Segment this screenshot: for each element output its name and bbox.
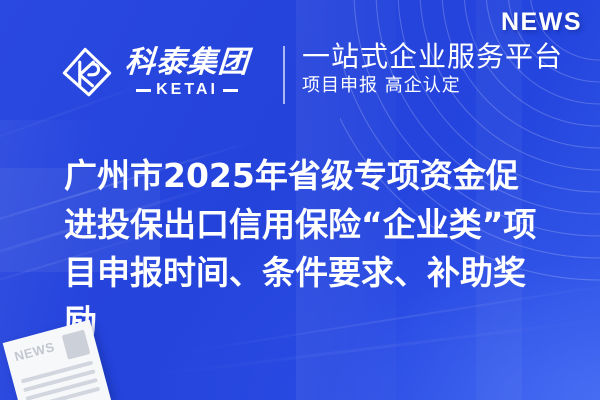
brand-name-en-row: KETAI <box>136 82 238 98</box>
tagline-main: 一站式企业服务平台 <box>302 41 563 72</box>
newspaper-title: NEWS <box>13 340 56 363</box>
wordmark-rule-left <box>136 89 151 92</box>
wordmark-rule-right <box>223 89 238 92</box>
brand-name-cn: 科泰集团 <box>124 48 250 78</box>
news-banner: NEWS 科泰集团 KETAI 一站式企业服务 <box>0 0 600 400</box>
brand-logo[interactable]: 科泰集团 KETAI <box>58 44 249 102</box>
ketai-diamond-monogram-icon <box>58 44 116 102</box>
newspaper-image-block <box>62 330 91 360</box>
brand-name-en: KETAI <box>156 82 218 98</box>
news-badge: NEWS <box>501 8 582 37</box>
header-divider <box>283 46 285 104</box>
tagline-sub: 项目申报 高企认定 <box>302 75 563 97</box>
tagline-block: 一站式企业服务平台 项目申报 高企认定 <box>302 41 563 97</box>
page-title: 广州市2025年省级专项资金促进投保出口信用保险“企业类”项目申报时间、条件要求… <box>64 152 542 346</box>
brand-wordmark: 科泰集团 KETAI <box>125 48 249 98</box>
banner-header: NEWS 科泰集团 KETAI 一站式企业服务 <box>0 0 600 135</box>
